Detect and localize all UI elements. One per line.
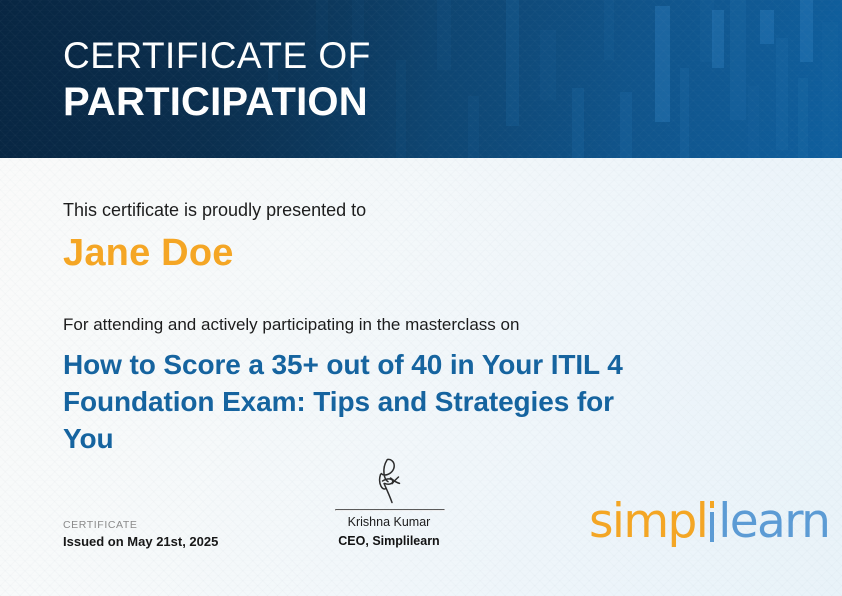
heading-line-certificate-of: CERTIFICATE OF xyxy=(63,34,371,78)
issue-date: Issued on May 21st, 2025 xyxy=(63,533,218,551)
certificate-heading: CERTIFICATE OF PARTICIPATION xyxy=(63,34,371,126)
recipient-name: Jane Doe xyxy=(63,232,234,275)
logo-i-stem-icon xyxy=(710,512,714,542)
certificate-caption: CERTIFICATE xyxy=(63,518,218,533)
logo-text-simpl: simpl xyxy=(589,496,707,548)
attendance-statement: For attending and actively participating… xyxy=(63,315,519,335)
heading-line-participation: PARTICIPATION xyxy=(63,78,371,126)
logo-i-mark-icon xyxy=(707,496,718,548)
signature-block: Krishna Kumar CEO, Simplilearn xyxy=(335,454,443,550)
certificate-body: This certificate is proudly presented to… xyxy=(0,158,842,596)
logo-i-dot-icon xyxy=(710,501,714,508)
signer-name: Krishna Kumar xyxy=(335,511,443,532)
signer-title: CEO, Simplilearn xyxy=(335,532,443,550)
issue-info: CERTIFICATE Issued on May 21st, 2025 xyxy=(63,518,218,551)
certificate-header: CERTIFICATE OF PARTICIPATION xyxy=(0,0,842,158)
course-title: How to Score a 35+ out of 40 in Your ITI… xyxy=(63,346,653,457)
signature-icon xyxy=(335,454,443,509)
simplilearn-logo: simpl learn xyxy=(589,496,829,548)
presented-to-label: This certificate is proudly presented to xyxy=(63,200,366,221)
certificate-canvas: CERTIFICATE OF PARTICIPATION This certif… xyxy=(0,0,842,596)
logo-text-learn: learn xyxy=(718,496,829,548)
